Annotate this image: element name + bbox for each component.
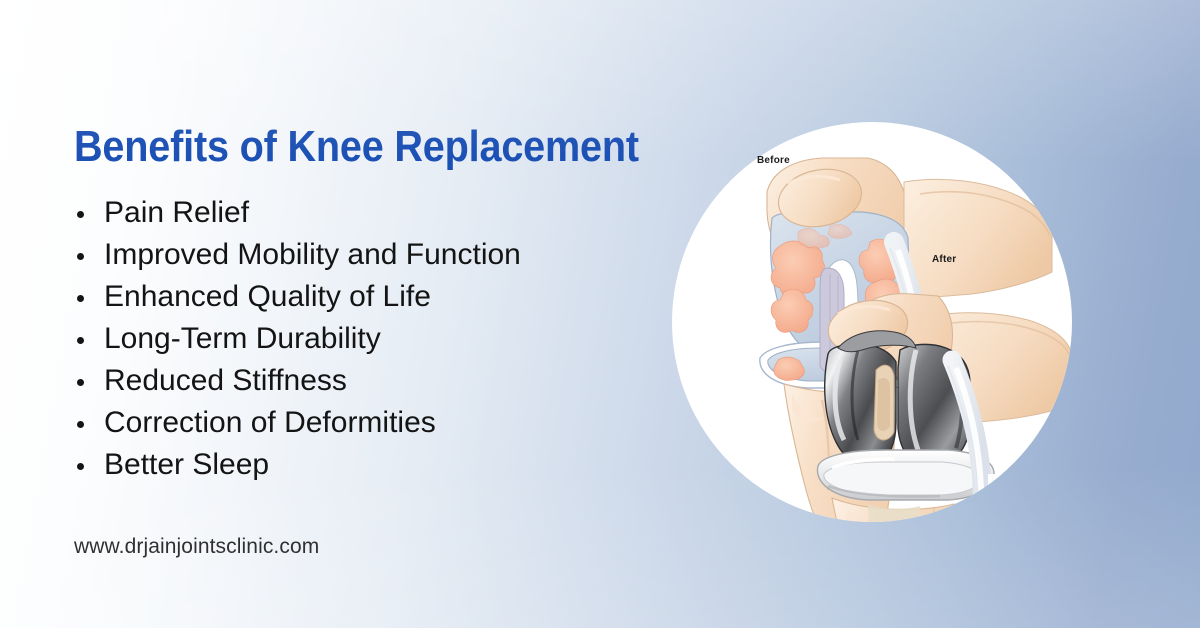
label-after: After [932, 254, 956, 265]
bullet-icon [77, 211, 84, 218]
list-item: Pain Relief [70, 192, 670, 234]
bullet-icon [77, 253, 84, 260]
page-title: Benefits of Knee Replacement [74, 121, 639, 173]
list-item: Correction of Deformities [70, 402, 670, 444]
website-url[interactable]: www.drjainjointsclinic.com [74, 533, 319, 561]
bullet-icon [77, 295, 84, 302]
list-item-label: Enhanced Quality of Life [104, 280, 431, 313]
list-item: Enhanced Quality of Life [70, 276, 670, 318]
list-item: Long-Term Durability [70, 318, 670, 360]
list-item: Improved Mobility and Function [70, 234, 670, 276]
list-item: Reduced Stiffness [70, 360, 670, 402]
label-before: Before [757, 155, 790, 166]
list-item-label: Long-Term Durability [104, 322, 381, 355]
list-item-label: Improved Mobility and Function [104, 238, 521, 271]
list-item-label: Better Sleep [104, 448, 269, 481]
knee-before-after-icon [672, 122, 1072, 522]
bullet-icon [77, 463, 84, 470]
knee-illustration-circle [672, 122, 1072, 522]
bullet-icon [77, 421, 84, 428]
benefits-list: Pain Relief Improved Mobility and Functi… [70, 192, 670, 486]
list-item-label: Correction of Deformities [104, 406, 436, 439]
bullet-icon [77, 337, 84, 344]
bullet-icon [77, 379, 84, 386]
after-knee-group [817, 294, 1072, 522]
list-item-label: Reduced Stiffness [104, 364, 347, 397]
poster-canvas: Benefits of Knee Replacement Pain Relief… [0, 0, 1200, 628]
list-item: Better Sleep [70, 444, 670, 486]
list-item-label: Pain Relief [104, 196, 249, 229]
